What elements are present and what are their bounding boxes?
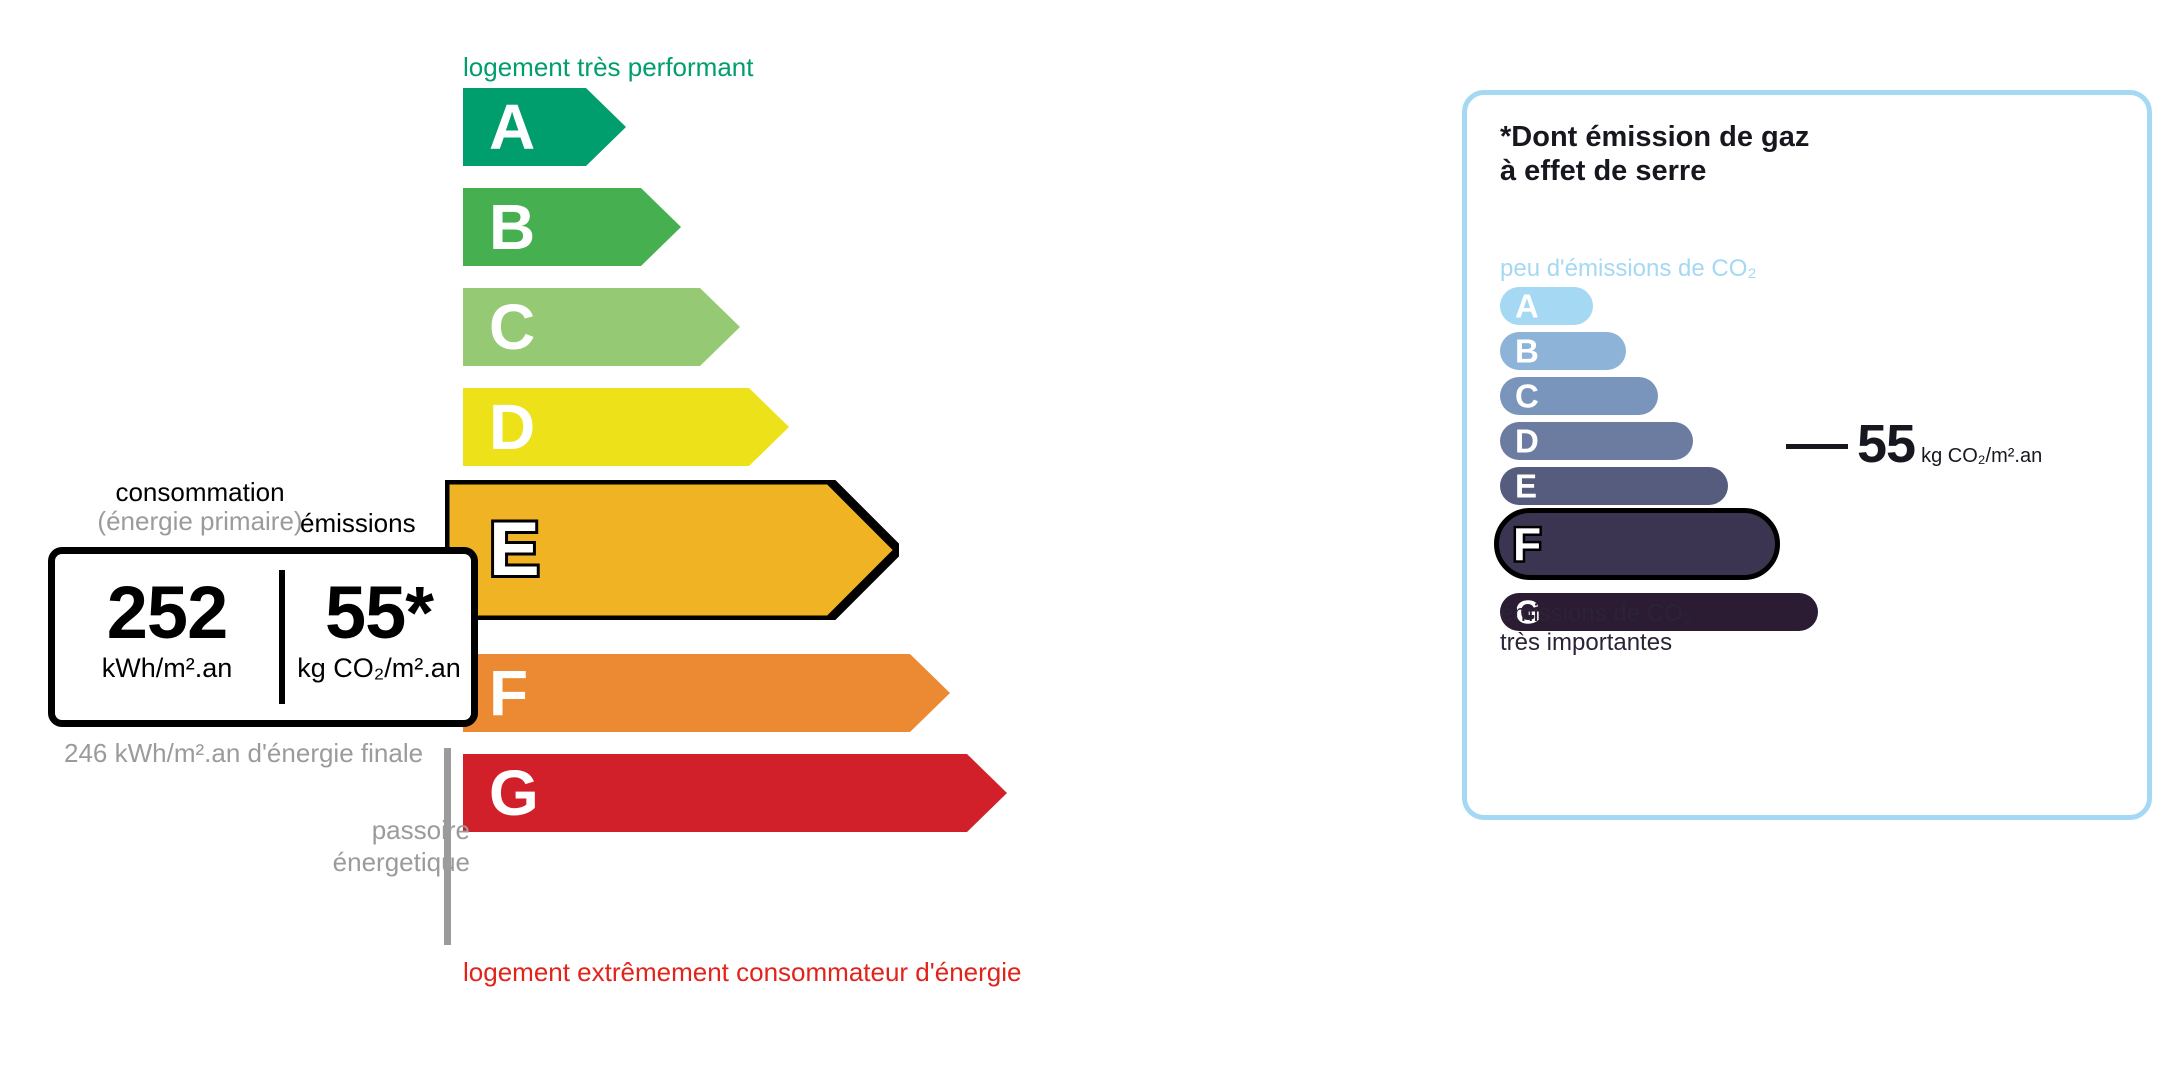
co2-bar-a: A: [1500, 287, 1593, 325]
co2-bar-b: B: [1500, 332, 1626, 370]
energy-bar-letter-b: B: [489, 195, 535, 259]
energy-bar-f: F: [463, 654, 950, 732]
co2-bar-letter-b: B: [1515, 335, 1539, 368]
consumption-label-main: consommation: [115, 477, 284, 507]
co2-panel-title: *Dont émission de gaz à effet de serre: [1500, 121, 1809, 189]
energy-bottom-caption: logement extrêmement consommateur d'éner…: [463, 957, 1021, 988]
emissions-label: émissions: [300, 508, 416, 539]
consumption-label-sub: (énergie primaire): [66, 507, 334, 536]
co2-callout: 55kg CO₂/m².an: [1857, 413, 2042, 475]
co2-bar-letter-f: F: [1513, 521, 1541, 567]
co2-callout-unit: kg CO₂/m².an: [1921, 445, 2042, 467]
co2-bar-letter-d: D: [1515, 425, 1539, 458]
co2-callout-value: 55: [1857, 414, 1915, 474]
emissions-value-cell: 55* kg CO₂/m².an: [287, 574, 471, 714]
energy-bar-g: G: [463, 754, 1007, 832]
co2-leader-line: [1786, 444, 1848, 449]
energy-bar-letter-e: E: [489, 512, 540, 588]
primary-energy-unit: kWh/m².an: [61, 654, 273, 684]
energy-top-caption: logement très performant: [463, 52, 753, 83]
energy-bar-a: A: [463, 88, 626, 166]
energy-bar-letter-c: C: [489, 295, 535, 359]
energy-bar-d: D: [463, 388, 789, 466]
passoire-label: passoire énergetique: [280, 815, 470, 878]
energy-bar-letter-f: F: [489, 661, 528, 725]
co2-bar-f: F: [1494, 508, 1780, 580]
energy-bar-letter-g: G: [489, 761, 539, 825]
energy-bar-e: E: [445, 480, 899, 620]
energy-bar-letter-a: A: [489, 95, 535, 159]
co2-panel: *Dont émission de gaz à effet de serre p…: [1462, 90, 2152, 820]
value-readout-box: 252 kWh/m².an 55* kg CO₂/m².an: [48, 547, 478, 727]
value-box-divider: [279, 570, 285, 704]
energy-bar-c: C: [463, 288, 740, 366]
co2-bar-letter-e: E: [1515, 470, 1537, 503]
consumption-label: consommation (énergie primaire): [66, 478, 334, 536]
emissions-value: 55*: [287, 574, 471, 652]
co2-bottom-caption: émissions de CO₂ très importantes: [1500, 600, 1692, 658]
primary-energy-value: 252: [61, 574, 273, 652]
energy-performance-diagram: logement très performant ABCDEFG logemen…: [0, 0, 1400, 1079]
co2-bar-c: C: [1500, 377, 1658, 415]
final-energy-label: 246 kWh/m².an d'énergie finale: [64, 738, 423, 770]
co2-bar-e: E: [1500, 467, 1728, 505]
co2-bar-d: D: [1500, 422, 1693, 460]
co2-top-caption: peu d'émissions de CO₂: [1500, 255, 1757, 283]
energy-bar-letter-d: D: [489, 395, 535, 459]
primary-energy-value-cell: 252 kWh/m².an: [61, 574, 273, 714]
energy-class-bars: ABCDEFG: [463, 88, 1363, 948]
co2-bar-letter-a: A: [1515, 290, 1539, 323]
emissions-unit: kg CO₂/m².an: [287, 654, 471, 684]
energy-bar-b: B: [463, 188, 681, 266]
co2-bar-letter-c: C: [1515, 380, 1539, 413]
